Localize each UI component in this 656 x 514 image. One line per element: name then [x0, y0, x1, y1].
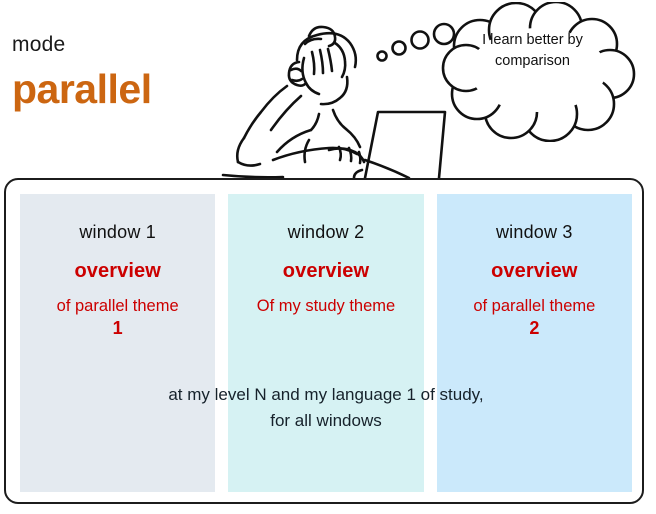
header-section: mode parallel	[0, 0, 656, 178]
window-description: Of my study theme	[228, 295, 423, 317]
window-description-text: Of my study theme	[257, 297, 395, 315]
window-description-text: of parallel theme	[473, 297, 595, 315]
window-overview-heading: overview	[20, 260, 215, 283]
window-description: of parallel theme 1	[20, 295, 215, 339]
window-panel-1[interactable]: window 1 overview of parallel theme 1	[20, 194, 215, 492]
window-description-text: of parallel theme	[57, 297, 179, 315]
window-panel-3[interactable]: window 3 overview of parallel theme 2	[437, 194, 632, 492]
thought-bubble-icon	[370, 2, 656, 142]
window-overview-heading: overview	[437, 260, 632, 283]
thought-bubble-text: I learn better by comparison	[460, 30, 605, 72]
window-theme-number: 2	[440, 317, 629, 339]
window-panel-2[interactable]: window 2 overview Of my study theme	[228, 194, 423, 492]
window-overview-heading: overview	[228, 260, 423, 283]
windows-columns: window 1 overview of parallel theme 1 wi…	[20, 194, 632, 492]
mode-label: mode	[12, 33, 65, 57]
window-title: window 1	[20, 222, 215, 243]
window-title: window 3	[437, 222, 632, 243]
window-title: window 2	[228, 222, 423, 243]
mode-value: parallel	[12, 66, 152, 113]
window-description: of parallel theme 2	[437, 295, 632, 339]
windows-container: window 1 overview of parallel theme 1 wi…	[4, 178, 644, 504]
window-theme-number: 1	[23, 317, 212, 339]
